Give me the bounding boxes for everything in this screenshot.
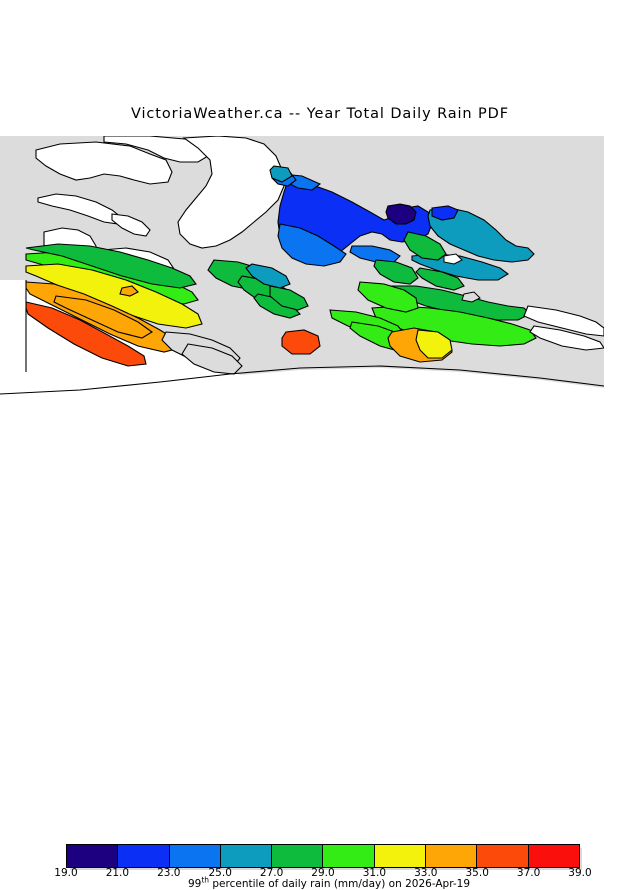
colorbar-bin-8 <box>426 845 477 867</box>
colorbar-bin-9 <box>477 845 528 867</box>
colorbar-caption: 99th percentile of daily rain (mm/day) o… <box>0 878 640 890</box>
colorbar-bin-4 <box>221 845 272 867</box>
colorbar <box>66 844 580 868</box>
colorbar-bin-7 <box>375 845 426 867</box>
rain-region-northeast-blue-patch <box>432 206 458 220</box>
colorbar-bin-3 <box>170 845 221 867</box>
rain-choropleth-map <box>0 136 604 398</box>
colorbar-bin-2 <box>118 845 169 867</box>
page-title: VictoriaWeather.ca -- Year Total Daily R… <box>0 106 640 122</box>
map-panel <box>0 136 604 398</box>
colorbar-area: 19.021.023.025.027.029.031.033.035.037.0… <box>0 418 640 480</box>
caption-superscript: th <box>201 876 209 885</box>
colorbar-bin-5 <box>272 845 323 867</box>
colorbar-bin-1 <box>67 845 118 867</box>
colorbar-bin-6 <box>323 845 374 867</box>
colorbar-bin-10 <box>529 845 579 867</box>
